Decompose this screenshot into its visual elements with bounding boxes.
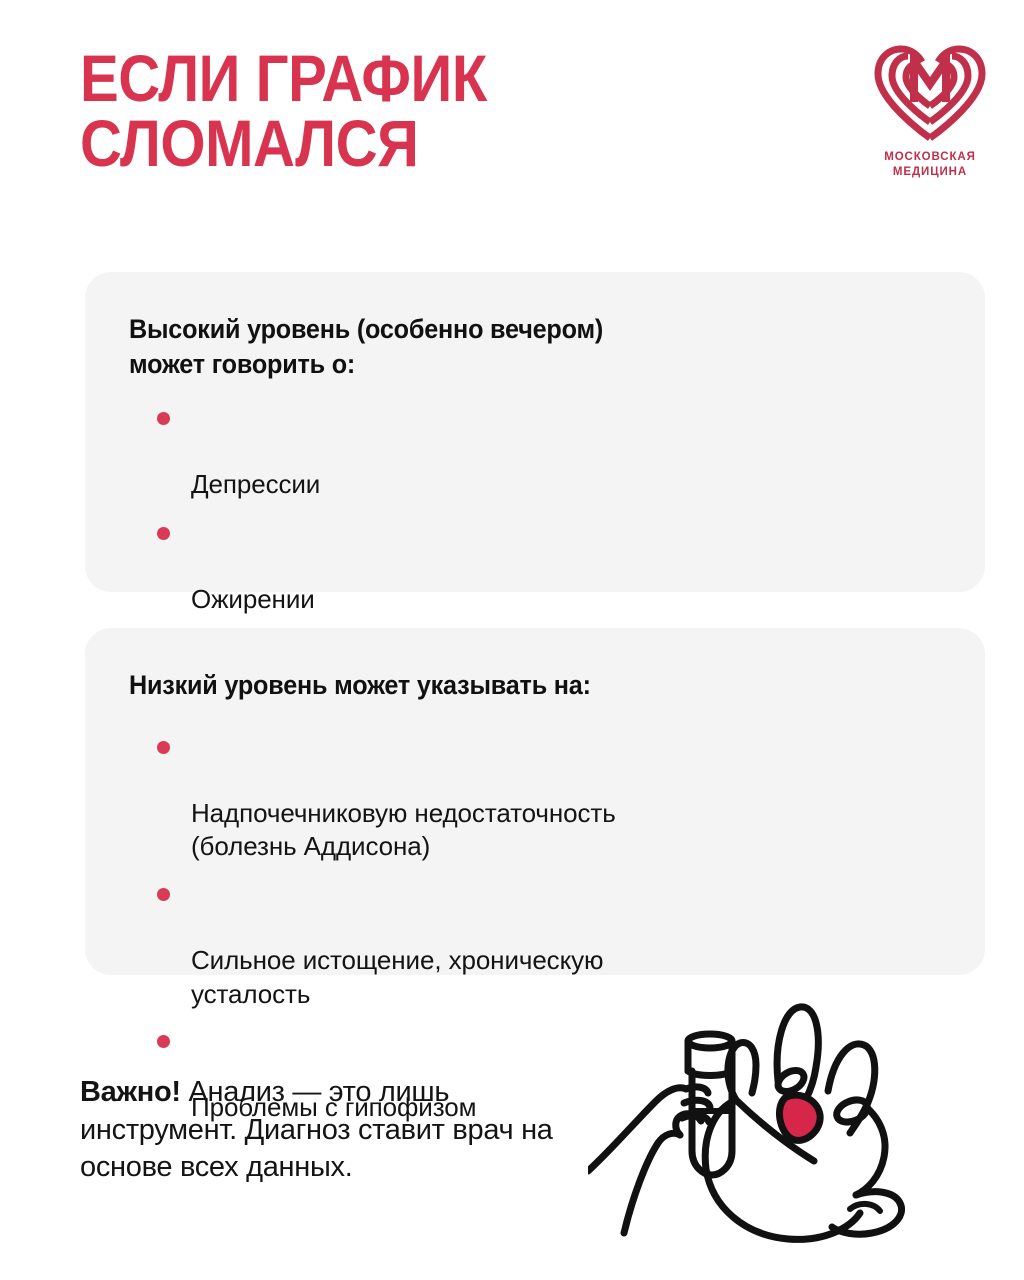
list-item-label: Ожирении xyxy=(191,584,315,614)
card-high-level-heading: Высокий уровень (особенно вечером) может… xyxy=(129,312,900,382)
card-low-level-heading: Низкий уровень может указывать на: xyxy=(129,668,900,703)
brand-logo-text: МОСКОВСКАЯ МЕДИЦИНА xyxy=(862,150,998,179)
bullet-dot-icon xyxy=(157,888,170,901)
important-note: Важно! Анализ — это лишь инструмент. Диа… xyxy=(80,1074,580,1187)
bullet-dot-icon xyxy=(157,412,170,425)
card-low-level: Низкий уровень может указывать на: Надпо… xyxy=(85,628,985,975)
bullet-dot-icon xyxy=(157,741,170,754)
poster-page: ЕСЛИ ГРАФИК СЛОМАЛСЯ xyxy=(0,0,1024,1280)
brand-logo: МОСКОВСКАЯ МЕДИЦИНА xyxy=(862,44,998,179)
list-item-label: Депрессии xyxy=(191,469,320,499)
list-item: Надпочечниковую недостаточность (болезнь… xyxy=(129,729,941,864)
important-note-label: Важно! xyxy=(80,1076,181,1108)
list-item-label: Надпочечниковую недостаточность (болезнь… xyxy=(191,798,616,862)
bullet-dot-icon xyxy=(157,527,170,540)
card-high-level: Высокий уровень (особенно вечером) может… xyxy=(85,272,985,592)
list-item: Депрессии xyxy=(129,400,941,501)
page-title: ЕСЛИ ГРАФИК СЛОМАЛСЯ xyxy=(80,46,643,175)
red-accent-shape xyxy=(779,1095,820,1140)
poster-header: ЕСЛИ ГРАФИК СЛОМАЛСЯ xyxy=(0,0,1024,250)
list-item: Ожирении xyxy=(129,515,941,616)
hand-holding-test-tube-illustration xyxy=(588,985,998,1255)
poster-footer: Важно! Анализ — это лишь инструмент. Диа… xyxy=(0,985,1024,1280)
heart-logo-icon xyxy=(870,44,990,142)
